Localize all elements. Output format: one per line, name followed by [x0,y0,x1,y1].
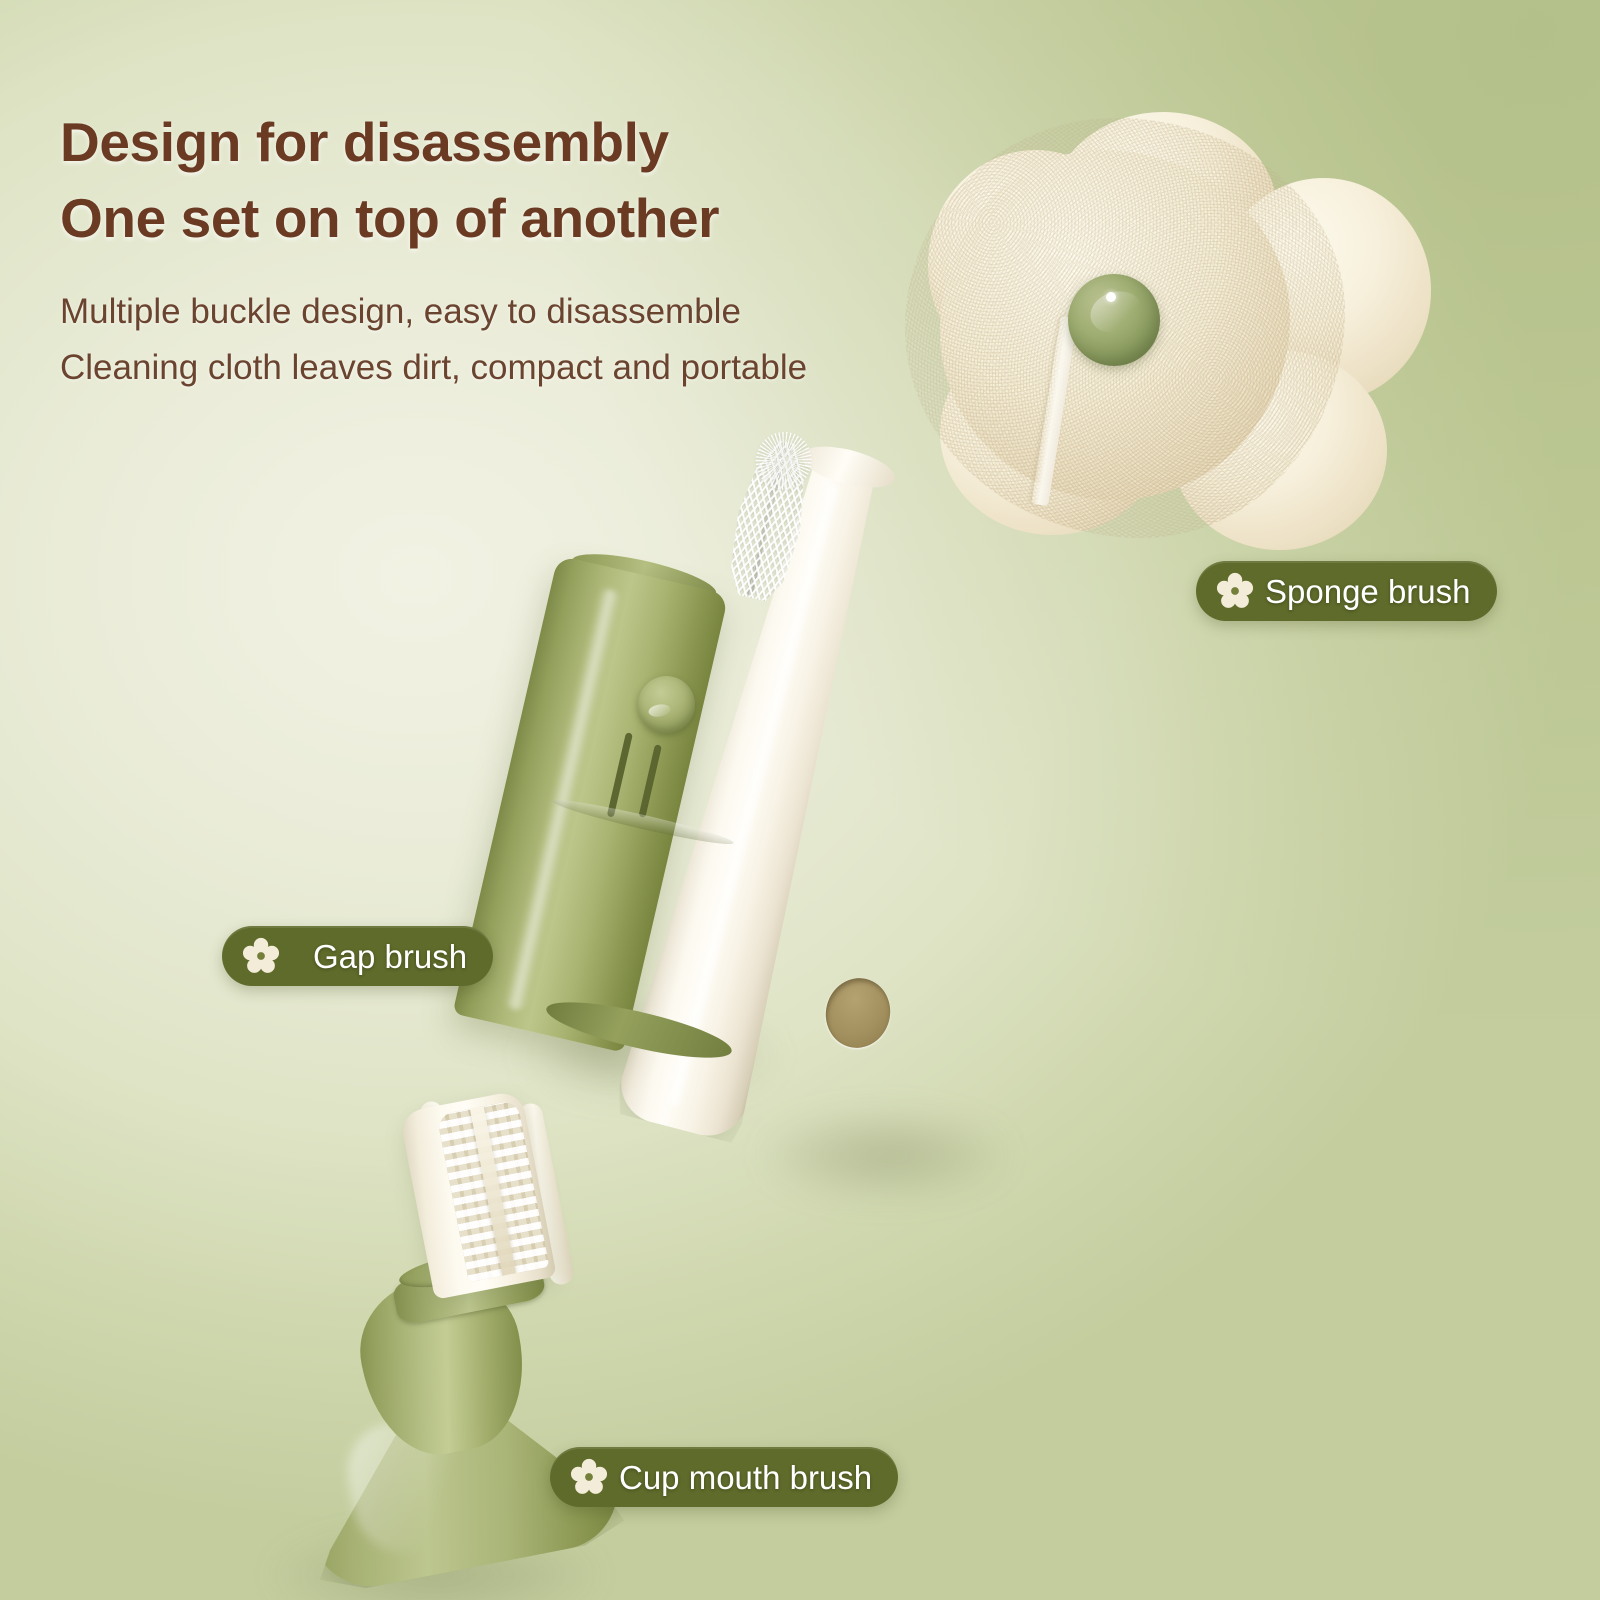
sponge-handle-hole [818,971,897,1055]
flower-icon [1216,572,1254,610]
headline-line-2: One set on top of another [60,180,807,256]
badge-gap-brush[interactable]: Gap brush [222,926,493,986]
sub-line-1: Multiple buckle design, easy to disassem… [60,284,807,340]
flower-icon [242,937,280,975]
headline-line-1: Design for disassembly [60,104,807,180]
sub-line-2: Cleaning cloth leaves dirt, compact and … [60,340,807,396]
badge-sponge-brush[interactable]: Sponge brush [1196,561,1497,621]
badge-cup-mouth-brush[interactable]: Cup mouth brush [550,1447,898,1507]
flower-icon [570,1458,608,1496]
badge-label: Gap brush [313,940,467,973]
product-promo-image: Design for disassembly One set on top of… [0,0,1600,1600]
copy-block: Design for disassembly One set on top of… [60,104,807,396]
badge-label: Cup mouth brush [619,1461,872,1494]
badge-label: Sponge brush [1265,575,1471,608]
